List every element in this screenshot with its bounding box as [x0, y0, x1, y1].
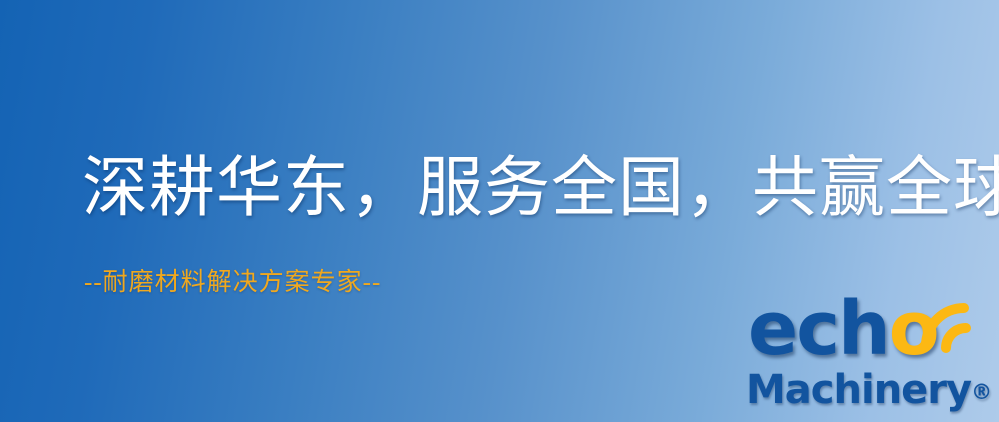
company-logo: echo Machinery®: [742, 296, 994, 420]
banner-headline: 深耕华东，服务全国，共赢全球: [82, 150, 999, 228]
logo-tagline-text: Machinery: [746, 367, 971, 413]
signal-waves-icon: [918, 287, 996, 353]
promo-banner: 深耕华东，服务全国，共赢全球 --耐磨材料解决方案专家-- echo Machi…: [0, 0, 999, 422]
logo-wordmark-prefix: ech: [748, 286, 889, 372]
logo-wordmark: echo: [748, 292, 938, 366]
logo-tagline: Machinery®: [746, 368, 992, 414]
registered-trademark-icon: ®: [971, 380, 992, 404]
banner-subtitle: --耐磨材料解决方案专家--: [84, 268, 381, 298]
